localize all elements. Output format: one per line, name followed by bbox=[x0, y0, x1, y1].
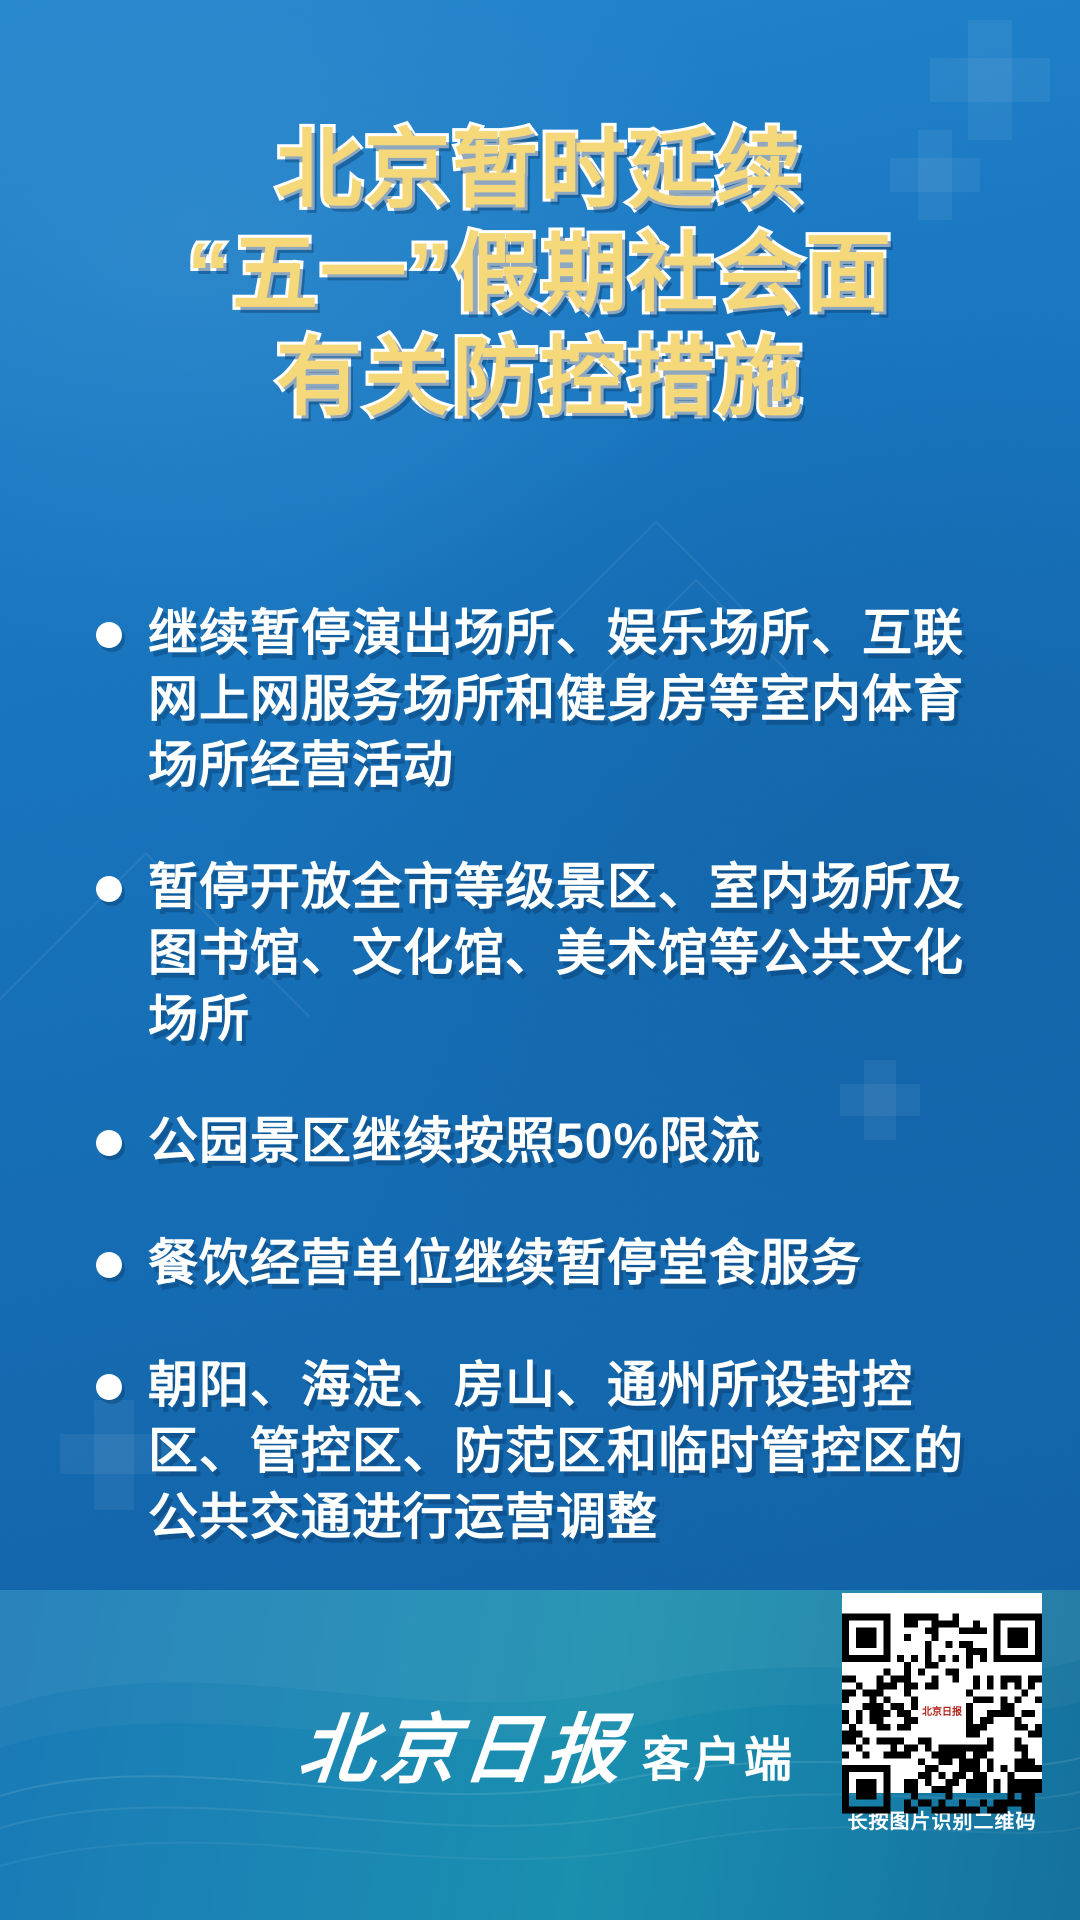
circle-bullet-icon bbox=[96, 622, 122, 648]
measures-list: 继续暂停演出场所、娱乐场所、互联网上网服务场所和健身房等室内体育场所经营活动 暂… bbox=[96, 600, 996, 1606]
qr-center-logo: 北京日报 bbox=[920, 1692, 964, 1736]
title-line-2: “五一”假期社会面 bbox=[0, 222, 1080, 326]
measure-text: 暂停开放全市等级景区、室内场所及图书馆、文化馆、美术馆等公共文化场所 bbox=[148, 854, 978, 1052]
measure-text: 朝阳、海淀、房山、通州所设封控区、管控区、防范区和临时管控区的公共交通进行运营调… bbox=[148, 1352, 978, 1550]
circle-bullet-icon bbox=[96, 1374, 122, 1400]
qr-code-block[interactable]: 北京日报 长按图片识别二维码 bbox=[842, 1593, 1042, 1834]
title-line-3: 有关防控措施 bbox=[0, 326, 1080, 430]
list-item: 继续暂停演出场所、娱乐场所、互联网上网服务场所和健身房等室内体育场所经营活动 bbox=[96, 600, 996, 798]
publisher-logo-sub: 客户端 bbox=[642, 1720, 795, 1790]
measure-text: 餐饮经营单位继续暂停堂食服务 bbox=[148, 1230, 862, 1296]
measure-text: 公园景区继续按照50%限流 bbox=[148, 1108, 761, 1174]
poster-root: 北京暂时延续 “五一”假期社会面 有关防控措施 继续暂停演出场所、娱乐场所、互联… bbox=[0, 0, 1080, 1920]
qr-code-image[interactable]: 北京日报 bbox=[842, 1593, 1042, 1793]
title-line-1: 北京暂时延续 bbox=[0, 118, 1080, 222]
measure-text: 继续暂停演出场所、娱乐场所、互联网上网服务场所和健身房等室内体育场所经营活动 bbox=[148, 600, 978, 798]
circle-bullet-icon bbox=[96, 876, 122, 902]
publisher-logo-mark: 北京日报 bbox=[294, 1688, 634, 1798]
footer-band: 北京日报 客户端 北京日报 长按图片识别二维码 bbox=[0, 1590, 1080, 1920]
list-item: 公园景区继续按照50%限流 bbox=[96, 1108, 996, 1174]
list-item: 暂停开放全市等级景区、室内场所及图书馆、文化馆、美术馆等公共文化场所 bbox=[96, 854, 996, 1052]
list-item: 朝阳、海淀、房山、通州所设封控区、管控区、防范区和临时管控区的公共交通进行运营调… bbox=[96, 1352, 996, 1550]
list-item: 餐饮经营单位继续暂停堂食服务 bbox=[96, 1230, 996, 1296]
publisher-logo: 北京日报 客户端 bbox=[300, 1688, 795, 1798]
circle-bullet-icon bbox=[96, 1252, 122, 1278]
circle-bullet-icon bbox=[96, 1130, 122, 1156]
poster-title: 北京暂时延续 “五一”假期社会面 有关防控措施 bbox=[0, 118, 1080, 430]
